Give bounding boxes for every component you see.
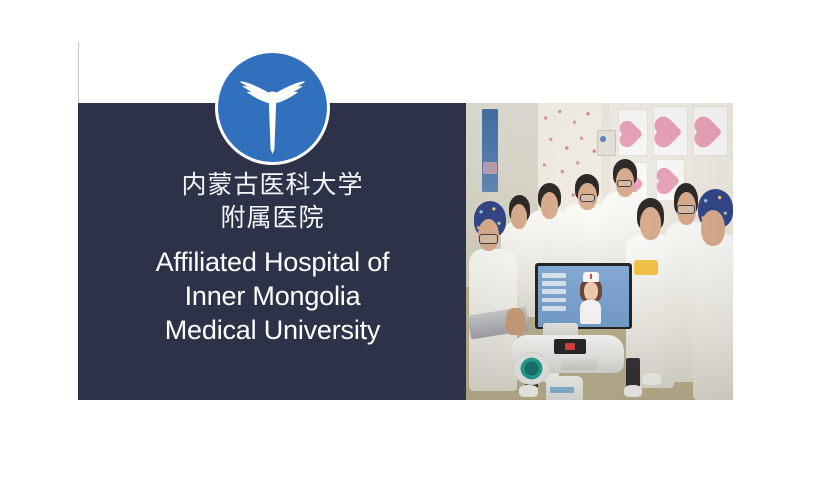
hospital-logo (215, 50, 330, 165)
heart-poster (653, 106, 688, 156)
shoe (519, 385, 538, 397)
wall-fixture (597, 130, 616, 157)
staff-glasses (479, 234, 498, 244)
screen-menu-item (542, 281, 566, 286)
robot-brand-logo (550, 387, 574, 393)
staff-glasses (580, 194, 595, 202)
robot-tray (562, 358, 597, 370)
title-english-line-2: Inner Mongolia (78, 279, 467, 313)
screen-menu-item (542, 273, 566, 278)
screen-menu-item (542, 289, 566, 294)
robot-sensor-port (513, 352, 550, 385)
staff-head (541, 192, 558, 219)
title-text-block: 内蒙古医科大学 附属医院 Affiliated Hospital of Inne… (78, 168, 467, 347)
winged-torch-icon (215, 50, 330, 165)
staff-glasses (617, 180, 632, 188)
title-english-line-3: Medical University (78, 313, 467, 347)
title-chinese-line-1: 内蒙古医科大学 (78, 168, 467, 201)
wall-fixture-led (600, 136, 606, 143)
staff-head (640, 207, 661, 240)
avatar-uniform (580, 300, 601, 324)
screen-menu-item (542, 306, 566, 311)
blue-banner (482, 109, 498, 192)
robot-display-screen (538, 266, 630, 327)
hospital-robot-demo-photo (466, 103, 733, 400)
heart-poster (693, 106, 728, 156)
robot-display (535, 263, 631, 328)
staff-glasses (677, 205, 694, 214)
robot-control-panel (554, 339, 586, 354)
heart-poster (618, 109, 647, 157)
avatar-nurse-cap-icon (583, 272, 599, 282)
screen-menu-list (542, 273, 566, 311)
title-english-block: Affiliated Hospital of Inner Mongolia Me… (78, 245, 467, 347)
staff-head (701, 210, 725, 246)
vertical-rule (78, 41, 79, 104)
hand (506, 308, 525, 335)
banner-graphic (483, 162, 496, 174)
title-chinese-line-2: 附属医院 (78, 201, 467, 234)
shoe (642, 373, 661, 385)
staff-coat (693, 234, 733, 400)
staff-collar (634, 260, 658, 275)
screen-menu-item (542, 298, 566, 303)
trousers (626, 358, 639, 388)
shoe (624, 385, 643, 397)
title-english-line-1: Affiliated Hospital of (78, 245, 467, 279)
nurse-avatar (576, 272, 605, 324)
slide-root: { "slide": { "background_color": "#fffff… (0, 0, 813, 484)
